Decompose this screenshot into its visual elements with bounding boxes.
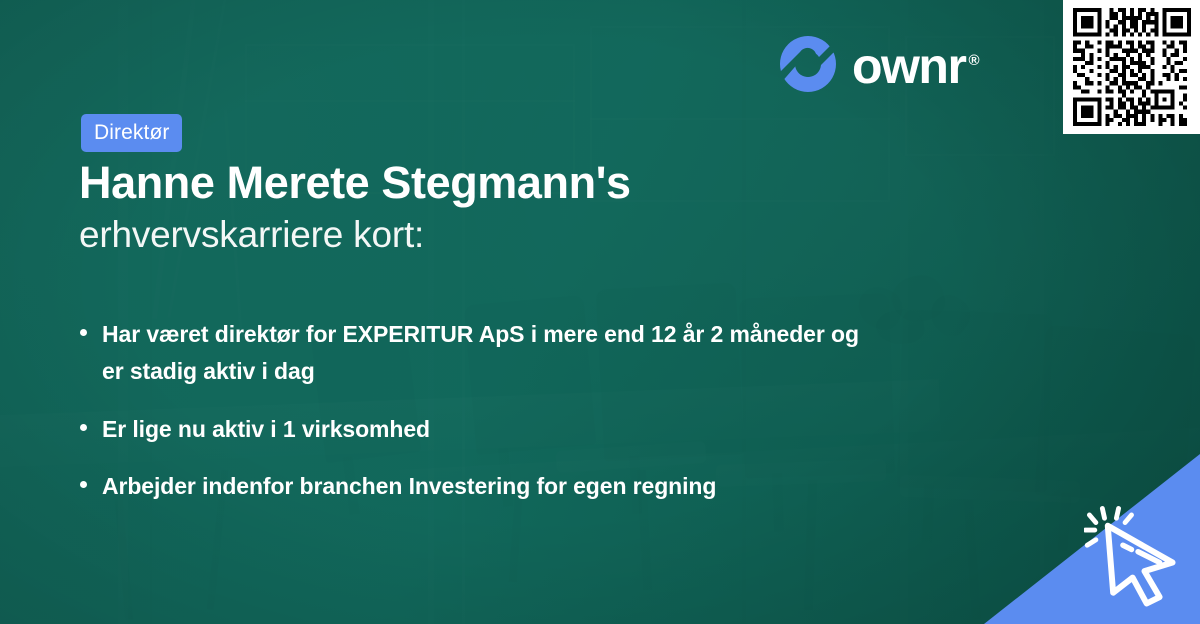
ownr-logo[interactable]: ownr® (778, 34, 975, 94)
card-content: Direktør Hanne Merete Stegmann's erhverv… (0, 0, 1200, 624)
ownr-wordmark-text: ownr (852, 38, 965, 94)
qr-code-panel[interactable] (1063, 0, 1200, 134)
bullet-dot-icon (80, 481, 87, 488)
ownr-circle-swirl-icon (778, 34, 838, 94)
registered-trademark-icon: ® (968, 52, 978, 69)
list-item: Arbejder indenfor branchen Investering f… (80, 468, 870, 505)
bullet-dot-icon (80, 329, 87, 336)
list-item: Har været direktør for EXPERITUR ApS i m… (80, 316, 870, 391)
headline-person-name: Hanne Merete Stegmann's (79, 158, 631, 208)
list-item-text: Har været direktør for EXPERITUR ApS i m… (102, 321, 859, 384)
ownr-wordmark: ownr® (852, 41, 975, 91)
click-cursor-icon (1084, 502, 1192, 610)
qr-code-icon (1073, 8, 1191, 126)
career-fact-list: Har været direktør for EXPERITUR ApS i m… (80, 316, 870, 505)
role-badge: Direktør (81, 114, 182, 152)
bullet-dot-icon (80, 424, 87, 431)
headline-subtitle: erhvervskarriere kort: (79, 214, 424, 255)
list-item: Er lige nu aktiv i 1 virksomhed (80, 411, 870, 448)
career-card: Direktør Hanne Merete Stegmann's erhverv… (0, 0, 1200, 624)
list-item-text: Arbejder indenfor branchen Investering f… (102, 473, 716, 499)
list-item-text: Er lige nu aktiv i 1 virksomhed (102, 416, 430, 442)
